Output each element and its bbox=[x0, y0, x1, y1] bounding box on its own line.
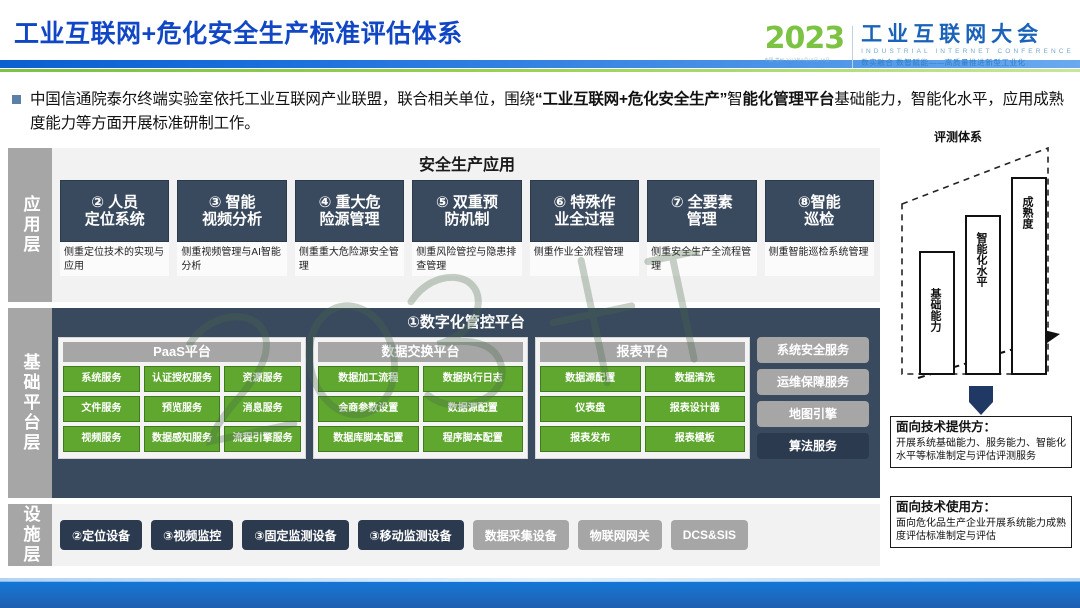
app-card[interactable]: ② 人员定位系统 侧重定位技术的实现与应用 bbox=[60, 180, 169, 276]
app-card-title: ③ 智能视频分析 bbox=[177, 180, 286, 242]
platform-layer: 基础平台层 ①数字化管控平台 PaaS平台 系统服务 认证授权服务 资源服务 文… bbox=[8, 308, 880, 498]
app-card[interactable]: ⑧智能巡检 侧重智能巡检系统管理 bbox=[765, 180, 874, 276]
report-chip[interactable]: 报表设计器 bbox=[645, 396, 746, 422]
report-panel: 报表平台 数据源配置 数据清洗 仪表盘 报表设计器 报表发布 报表模板 bbox=[535, 337, 750, 459]
paas-chip[interactable]: 流程引擎服务 bbox=[224, 426, 301, 452]
data-exchange-panel: 数据交换平台 数据加工流程 数据执行日志 会商参数设置 数据源配置 数据库脚本配… bbox=[313, 337, 528, 459]
data-exchange-chip[interactable]: 数据执行日志 bbox=[423, 366, 524, 392]
architecture-diagram: 应用层 安全生产应用 ② 人员定位系统 侧重定位技术的实现与应用 ③ 智能视频分… bbox=[8, 148, 880, 580]
info-box-user: 面向技术使用方： 面向危化品生产企业开展系统能力成熟度评估标准制定与评估 bbox=[890, 496, 1072, 548]
app-card[interactable]: ④ 重大危险源管理 侧重重大危险源安全管理 bbox=[295, 180, 404, 276]
bullet-square-icon bbox=[12, 95, 21, 104]
platform-service-list: 系统安全服务 运维保障服务 地图引擎 算法服务 bbox=[757, 337, 869, 459]
evaluation-bar-label-maturity: 成熟度 bbox=[1019, 196, 1035, 229]
bullet-line1-a: 中国信通院泰尔终端实验室依托工业互联网产业联盟，联合相关单位，围绕 bbox=[30, 91, 535, 108]
app-card-desc: 侧重智能巡检系统管理 bbox=[765, 242, 874, 276]
report-chip-grid: 数据源配置 数据清洗 仪表盘 报表设计器 报表发布 报表模板 bbox=[540, 366, 745, 452]
app-card[interactable]: ⑥ 特殊作业全过程 侧重作业全流程管理 bbox=[530, 180, 639, 276]
paas-chip[interactable]: 资源服务 bbox=[224, 366, 301, 392]
paas-chip[interactable]: 系统服务 bbox=[63, 366, 140, 392]
facility-layer-body: ②定位设备 ③视频监控 ③固定监测设备 ③移动监测设备 数据采集设备 物联网网关… bbox=[52, 504, 880, 566]
logo-year-block: 2023 中国 常州 2023年9月18日-19日 bbox=[765, 24, 845, 63]
app-card-title: ⑥ 特殊作业全过程 bbox=[530, 180, 639, 242]
facility-device[interactable]: 数据采集设备 bbox=[473, 520, 569, 550]
data-exchange-chip[interactable]: 程序脚本配置 bbox=[423, 426, 524, 452]
footer-band bbox=[0, 581, 1080, 608]
platform-service-algorithm[interactable]: 算法服务 bbox=[757, 433, 869, 459]
data-exchange-chip[interactable]: 会商参数设置 bbox=[318, 396, 419, 422]
paas-chip[interactable]: 视频服务 bbox=[63, 426, 140, 452]
logo-chinese-name: 工业互联网大会 bbox=[861, 24, 1074, 46]
app-card-desc: 侧重视频管理与AI智能分析 bbox=[177, 242, 286, 276]
facility-device[interactable]: ③固定监测设备 bbox=[242, 520, 348, 550]
evaluation-bar-label-intelligence: 智能化水平 bbox=[973, 232, 989, 287]
application-layer-body: 安全生产应用 ② 人员定位系统 侧重定位技术的实现与应用 ③ 智能视频分析 侧重… bbox=[52, 148, 880, 302]
platform-layer-heading: ①数字化管控平台 bbox=[58, 312, 874, 334]
app-card-desc: 侧重安全生产全流程管理 bbox=[647, 242, 756, 276]
report-chip[interactable]: 报表模板 bbox=[645, 426, 746, 452]
down-arrow-icon bbox=[964, 386, 998, 416]
platform-layer-body: ①数字化管控平台 PaaS平台 系统服务 认证授权服务 资源服务 文件服务 预览… bbox=[52, 308, 880, 498]
app-card-title: ⑤ 双重预防机制 bbox=[412, 180, 521, 242]
page-title: 工业互联网+危化安全生产标准评估体系 bbox=[14, 14, 463, 50]
divider-green-bar bbox=[0, 69, 1080, 72]
logo-name-block: 工业互联网大会 INDUSTRIAL INTERNET CONFERENCE 数… bbox=[861, 24, 1074, 68]
platform-service[interactable]: 运维保障服务 bbox=[757, 369, 869, 395]
facility-device[interactable]: DCS&SIS bbox=[671, 520, 748, 550]
bullet-line1-c: 智 bbox=[727, 91, 742, 108]
facility-device[interactable]: 物联网网关 bbox=[578, 520, 662, 550]
app-card-title: ⑧智能巡检 bbox=[765, 180, 874, 242]
data-exchange-chip[interactable]: 数据加工流程 bbox=[318, 366, 419, 392]
bullet-line2-a: 能化管理平台 bbox=[742, 91, 834, 108]
report-chip[interactable]: 数据清洗 bbox=[645, 366, 746, 392]
facility-device[interactable]: ③视频监控 bbox=[151, 520, 233, 550]
app-card-desc: 侧重作业全流程管理 bbox=[530, 242, 639, 276]
app-card-title: ④ 重大危险源管理 bbox=[295, 180, 404, 242]
logo-tagline: 数实融合 数智赋能——高质量推进新型工业化 bbox=[861, 57, 1074, 68]
info-box-title: 面向技术提供方： bbox=[896, 420, 1066, 436]
application-card-list: ② 人员定位系统 侧重定位技术的实现与应用 ③ 智能视频分析 侧重视频管理与AI… bbox=[60, 180, 874, 276]
evaluation-bar-label-base: 基础能力 bbox=[927, 288, 943, 332]
data-exchange-chip[interactable]: 数据库脚本配置 bbox=[318, 426, 419, 452]
platform-panel-list: PaaS平台 系统服务 认证授权服务 资源服务 文件服务 预览服务 消息服务 视… bbox=[58, 337, 874, 459]
layer-label-facility: 设施层 bbox=[8, 504, 52, 566]
report-panel-title: 报表平台 bbox=[540, 342, 745, 362]
paas-panel: PaaS平台 系统服务 认证授权服务 资源服务 文件服务 预览服务 消息服务 视… bbox=[58, 337, 306, 459]
app-card[interactable]: ③ 智能视频分析 侧重视频管理与AI智能分析 bbox=[177, 180, 286, 276]
paas-chip[interactable]: 数据感知服务 bbox=[144, 426, 221, 452]
report-chip[interactable]: 报表发布 bbox=[540, 426, 641, 452]
report-chip[interactable]: 数据源配置 bbox=[540, 366, 641, 392]
logo-year-subtitle: 中国 常州 2023年9月18日-19日 bbox=[765, 57, 845, 63]
app-card-title: ② 人员定位系统 bbox=[60, 180, 169, 242]
paas-chip[interactable]: 文件服务 bbox=[63, 396, 140, 422]
facility-device[interactable]: ③移动监测设备 bbox=[358, 520, 464, 550]
platform-service[interactable]: 系统安全服务 bbox=[757, 337, 869, 363]
conference-logo: 2023 中国 常州 2023年9月18日-19日 工业互联网大会 INDUST… bbox=[765, 24, 1074, 68]
app-card-desc: 侧重定位技术的实现与应用 bbox=[60, 242, 169, 276]
facility-device[interactable]: ②定位设备 bbox=[60, 520, 142, 550]
info-box-text: 开展系统基础能力、服务能力、智能化水平等标准制定与评估评测服务 bbox=[896, 437, 1066, 463]
app-card-title: ⑦ 全要素管理 bbox=[647, 180, 756, 242]
info-box-text: 面向危化品生产企业开展系统能力成熟度评估标准制定与评估 bbox=[896, 517, 1066, 543]
paas-chip[interactable]: 认证授权服务 bbox=[144, 366, 221, 392]
app-card-desc: 侧重重大危险源安全管理 bbox=[295, 242, 404, 276]
logo-divider bbox=[852, 26, 853, 68]
info-box-title: 面向技术使用方： bbox=[896, 500, 1066, 516]
info-box-provider: 面向技术提供方： 开展系统基础能力、服务能力、智能化水平等标准制定与评估评测服务 bbox=[890, 416, 1072, 468]
application-layer: 应用层 安全生产应用 ② 人员定位系统 侧重定位技术的实现与应用 ③ 智能视频分… bbox=[8, 148, 880, 302]
platform-service[interactable]: 地图引擎 bbox=[757, 401, 869, 427]
bullet-line1-b: “工业互联网+危化安全生产” bbox=[535, 91, 727, 108]
app-card[interactable]: ⑤ 双重预防机制 侧重风险管控与隐患排查管理 bbox=[412, 180, 521, 276]
app-card-desc: 侧重风险管控与隐患排查管理 bbox=[412, 242, 521, 276]
data-exchange-chip-grid: 数据加工流程 数据执行日志 会商参数设置 数据源配置 数据库脚本配置 程序脚本配… bbox=[318, 366, 523, 452]
data-exchange-panel-title: 数据交换平台 bbox=[318, 342, 523, 362]
data-exchange-chip[interactable]: 数据源配置 bbox=[423, 396, 524, 422]
paas-chip-grid: 系统服务 认证授权服务 资源服务 文件服务 预览服务 消息服务 视频服务 数据感… bbox=[63, 366, 301, 452]
logo-english-name: INDUSTRIAL INTERNET CONFERENCE bbox=[861, 48, 1074, 55]
facility-layer: 设施层 ②定位设备 ③视频监控 ③固定监测设备 ③移动监测设备 数据采集设备 物… bbox=[8, 504, 880, 566]
paas-chip[interactable]: 消息服务 bbox=[224, 396, 301, 422]
paas-chip[interactable]: 预览服务 bbox=[144, 396, 221, 422]
paas-panel-title: PaaS平台 bbox=[63, 342, 301, 362]
logo-year: 2023 bbox=[765, 24, 845, 54]
evaluation-panel: 评测体系 基础能力 智能化水平 成熟度 面向技术提供方： 开展系统基础能力、服务… bbox=[888, 128, 1074, 580]
application-layer-heading: 安全生产应用 bbox=[60, 154, 874, 178]
layer-label-platform: 基础平台层 bbox=[8, 308, 52, 498]
app-card[interactable]: ⑦ 全要素管理 侧重安全生产全流程管理 bbox=[647, 180, 756, 276]
layer-label-application: 应用层 bbox=[8, 148, 52, 302]
report-chip[interactable]: 仪表盘 bbox=[540, 396, 641, 422]
